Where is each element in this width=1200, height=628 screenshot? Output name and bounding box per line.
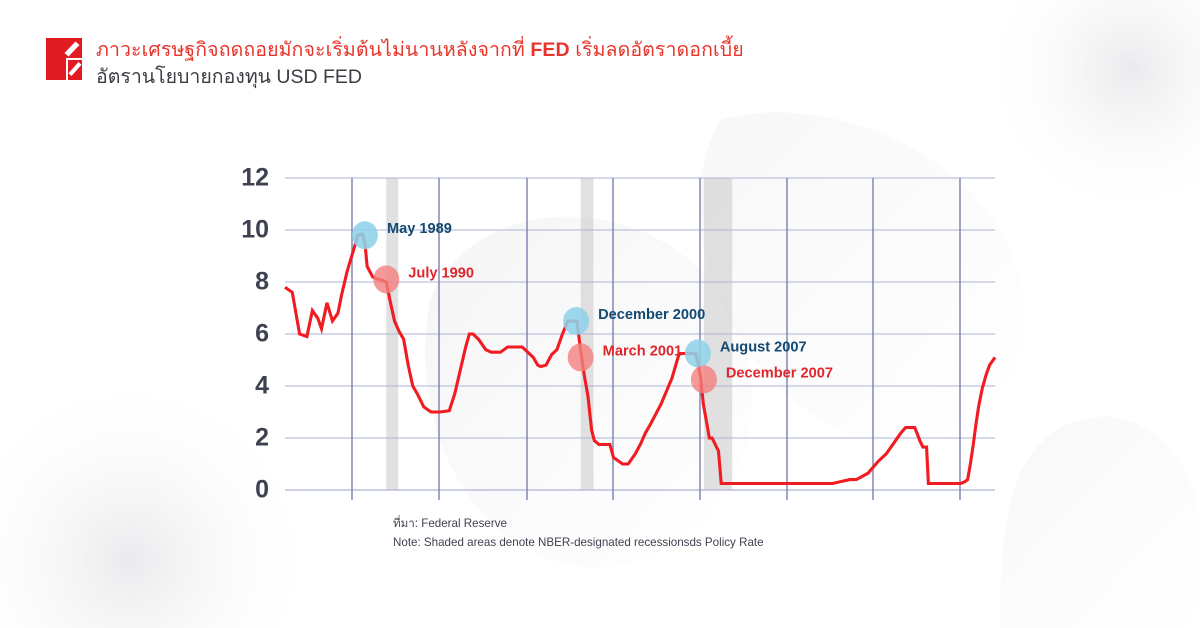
page-subtitle: อัตรานโยบายกองทุน USD FED xyxy=(96,63,744,91)
annotation-label: December 2000 xyxy=(598,307,705,323)
y-axis-tick-label: 8 xyxy=(255,268,269,296)
title-post-text: เริ่มลดอัตราดอกเบี้ย xyxy=(570,39,744,61)
y-axis-tick-label: 6 xyxy=(255,320,269,348)
annotation-marker-dot[interactable] xyxy=(563,307,589,335)
title-block: ภาวะเศรษฐกิจถดถอยมักจะเริ่มต้นไม่นานหลัง… xyxy=(96,36,744,91)
page-title-line1: ภาวะเศรษฐกิจถดถอยมักจะเริ่มต้นไม่นานหลัง… xyxy=(96,37,744,63)
annotation-label: July 1990 xyxy=(408,265,474,281)
methodology-note: Note: Shaded areas denote NBER-designate… xyxy=(393,533,764,552)
annotation-marker-dot[interactable] xyxy=(373,265,399,293)
title-pre-text: ภาวะเศรษฐกิจถดถอยมักจะเริ่มต้นไม่นานหลัง… xyxy=(96,39,530,61)
header: ภาวะเศรษฐกิจถดถอยมักจะเริ่มต้นไม่นานหลัง… xyxy=(46,36,744,91)
y-axis-tick-label: 2 xyxy=(255,424,269,452)
annotation-label: March 2001 xyxy=(603,343,683,359)
source-note: ที่มา: Federal Reserve xyxy=(393,514,764,533)
annotation-labels: May 1989July 1990December 2000March 2001… xyxy=(387,221,833,381)
title-fed-strong: FED xyxy=(530,39,569,61)
annotation-marker-dot[interactable] xyxy=(568,343,594,371)
pitch-logo-icon xyxy=(46,38,82,80)
annotation-marker-dot[interactable] xyxy=(352,221,378,249)
y-axis-tick-label: 12 xyxy=(241,164,269,192)
annotation-marker-dot[interactable] xyxy=(691,366,717,394)
annotation-label: August 2007 xyxy=(720,339,807,355)
annotation-label: December 2007 xyxy=(726,365,833,381)
y-axis-tick-label: 10 xyxy=(241,216,269,244)
annotation-label: May 1989 xyxy=(387,221,452,237)
footnotes: ที่มา: Federal Reserve Note: Shaded area… xyxy=(393,514,764,552)
annotation-marker-dot[interactable] xyxy=(685,340,711,368)
y-axis-tick-label: 0 xyxy=(255,476,269,504)
y-axis-tick-labels: 024681012 xyxy=(241,164,269,504)
y-axis-tick-label: 4 xyxy=(255,372,269,400)
